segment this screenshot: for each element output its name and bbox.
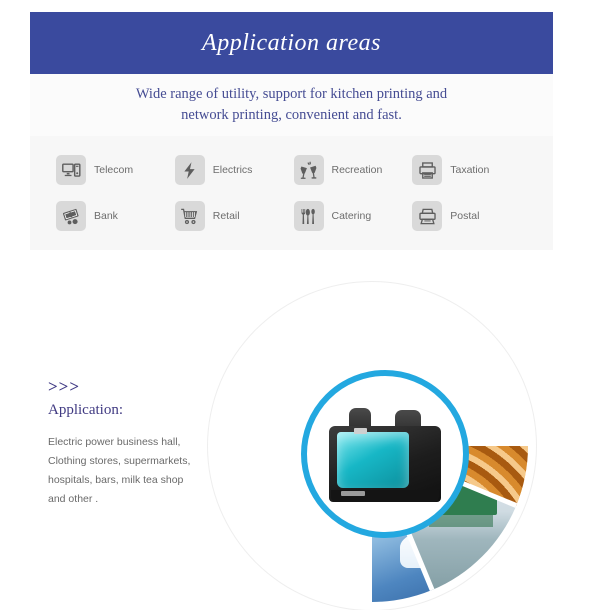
cocktail-glasses-icon (294, 155, 324, 185)
category-item-electrics[interactable]: Electrics (175, 148, 294, 192)
subtitle-area: Wide range of utility, support for kitch… (30, 74, 553, 136)
category-item-taxation[interactable]: Taxation (412, 148, 531, 192)
printer-lid (337, 432, 409, 488)
printer-brand-label (341, 491, 365, 496)
header-banner: Application areas (30, 12, 553, 74)
application-section: >>> Application: Electric power business… (0, 250, 600, 600)
category-label: Telecom (94, 164, 133, 176)
chevron-marker: >>> (48, 378, 208, 396)
category-label: Recreation (332, 164, 383, 176)
money-cash-icon: $ (56, 201, 86, 231)
category-label: Catering (332, 210, 372, 222)
application-body-line: hospitals, bars, milk tea shop (48, 471, 208, 490)
category-item-retail[interactable]: Retail (175, 194, 294, 238)
subtitle-line-2: network printing, convenient and fast. (181, 105, 402, 126)
monitor-computer-icon (56, 155, 86, 185)
category-label: Electrics (213, 164, 253, 176)
printer-indicator-panel (354, 428, 367, 434)
photo-wheel-inner (216, 290, 528, 602)
lightning-bolt-icon (175, 155, 205, 185)
printer-icon (412, 155, 442, 185)
category-item-telecom[interactable]: Telecom (56, 148, 175, 192)
category-icon-grid: Telecom Electrics Recreation (30, 136, 553, 250)
application-body: Electric power business hall, Clothing s… (48, 433, 208, 509)
category-item-postal[interactable]: Postal (412, 194, 531, 238)
category-label: Retail (213, 210, 240, 222)
category-label: Taxation (450, 164, 489, 176)
thermal-receipt-printer-image (321, 402, 449, 506)
mail-printer-icon (412, 201, 442, 231)
category-label: Postal (450, 210, 479, 222)
application-photo-wheel (208, 282, 536, 610)
page-title: Application areas (202, 30, 381, 57)
subtitle-line-1: Wide range of utility, support for kitch… (136, 84, 447, 105)
product-circle (301, 370, 469, 538)
application-body-line: Clothing stores, supermarkets, (48, 452, 208, 471)
application-areas-page: Application areas Wide range of utility,… (0, 0, 600, 600)
application-heading: Application: (48, 401, 208, 419)
category-label: Bank (94, 210, 118, 222)
cutlery-icon (294, 201, 324, 231)
application-body-line: Electric power business hall, (48, 433, 208, 452)
application-body-line: and other . (48, 490, 208, 509)
category-item-catering[interactable]: Catering (294, 194, 413, 238)
application-text-block: >>> Application: Electric power business… (48, 378, 208, 509)
shopping-cart-icon (175, 201, 205, 231)
category-item-recreation[interactable]: Recreation (294, 148, 413, 192)
category-item-bank[interactable]: $ Bank (56, 194, 175, 238)
